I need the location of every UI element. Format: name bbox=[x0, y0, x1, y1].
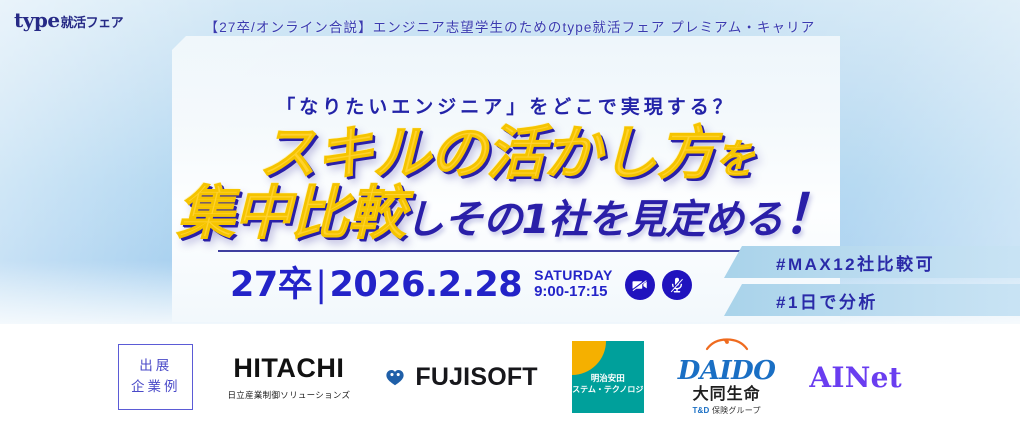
headline-line-1: スキルの活かし方を bbox=[172, 124, 840, 182]
event-date-row: 27卒|2026.2.28 SATURDAY 9:00-17:15 bbox=[230, 268, 692, 303]
hashtag-ribbon-1: #MAX12社比較可 bbox=[724, 246, 1020, 278]
hitachi-subtitle: 日立産業制御ソリューションズ bbox=[227, 389, 350, 401]
fujisoft-logo: FUJISOFT bbox=[384, 363, 537, 392]
daido-group-label: T&D 保険グループ bbox=[692, 405, 760, 416]
headline-kicker: 「なりたいエンジニア」をどこで実現する？ bbox=[172, 92, 840, 119]
headline-line-2: 集中比較しその1社を見定める！ bbox=[172, 184, 840, 242]
hashtag-ribbons: #MAX12社比較可 #1日で分析 bbox=[724, 246, 1020, 322]
exhibitor-label-line2: 企業例 bbox=[131, 377, 181, 398]
event-time: 9:00-17:15 bbox=[534, 284, 613, 301]
fujisoft-mark-icon bbox=[384, 366, 406, 388]
headline-line2-bang: ！ bbox=[782, 183, 835, 246]
headline-line1-tail: を bbox=[715, 137, 754, 183]
event-date-value: 2026.2.28 bbox=[330, 265, 523, 305]
exhibitor-logo-bar: 出展 企業例 HITACHI 日立産業制御ソリューションズ FUJISOFT bbox=[0, 324, 1020, 430]
meiji-name-line1: 明治安田 bbox=[572, 372, 644, 385]
meiji-name-line2: システム・テクノロジー bbox=[572, 384, 644, 396]
meiji-corner-accent bbox=[572, 341, 606, 375]
headline-line2-gold: 集中比較 bbox=[177, 179, 405, 247]
hitachi-logo: HITACHI 日立産業制御ソリューションズ bbox=[227, 353, 350, 401]
event-weekday: SATURDAY bbox=[534, 268, 613, 284]
hitachi-wordmark: HITACHI bbox=[233, 353, 344, 384]
date-separator: | bbox=[312, 265, 329, 305]
fujisoft-wordmark: FUJISOFT bbox=[415, 363, 537, 392]
camera-off-icon bbox=[625, 270, 655, 300]
headline-line2-blue: しその1社を見定める bbox=[405, 197, 783, 243]
exhibitor-label-line1: 出展 bbox=[131, 356, 181, 377]
grad-year-label: 27卒 bbox=[230, 265, 312, 305]
daido-group-text: 保険グループ bbox=[712, 406, 761, 415]
mic-off-icon bbox=[662, 270, 692, 300]
headline-line1-gold: スキルの活かし方 bbox=[258, 119, 714, 187]
event-date-main: 27卒|2026.2.28 bbox=[230, 268, 522, 303]
daido-jp-name: 大同生命 bbox=[693, 385, 761, 404]
ainet-wordmark: AINet bbox=[809, 361, 902, 394]
exhibitor-example-label: 出展 企業例 bbox=[118, 344, 194, 410]
event-strapline: 【27卒/オンライン合説】エンジニア志望学生のためのtype就活フェア プレミア… bbox=[0, 16, 1020, 36]
hashtag-ribbon-1-label: #MAX12社比較可 bbox=[776, 250, 935, 275]
hashtag-ribbon-2: #1日で分析 bbox=[724, 284, 1020, 316]
event-date-sub: SATURDAY 9:00-17:15 bbox=[534, 268, 613, 302]
headline-divider bbox=[218, 250, 794, 252]
meiji-yasuda-logo: 明治安田 システム・テクノロジー bbox=[572, 341, 644, 413]
daido-life-logo: DAIDO 大同生命 T&D 保険グループ bbox=[678, 338, 776, 416]
daido-bird-icon bbox=[703, 338, 751, 357]
daido-td-mark: T&D bbox=[692, 406, 709, 415]
ainet-logo: AINet bbox=[809, 361, 902, 394]
daido-wordmark: DAIDO bbox=[678, 358, 776, 384]
banner-root: type 就活フェア 【27卒/オンライン合説】エンジニア志望学生のためのtyp… bbox=[0, 0, 1020, 430]
hashtag-ribbon-2-label: #1日で分析 bbox=[776, 288, 878, 313]
event-mode-icons bbox=[625, 270, 692, 302]
